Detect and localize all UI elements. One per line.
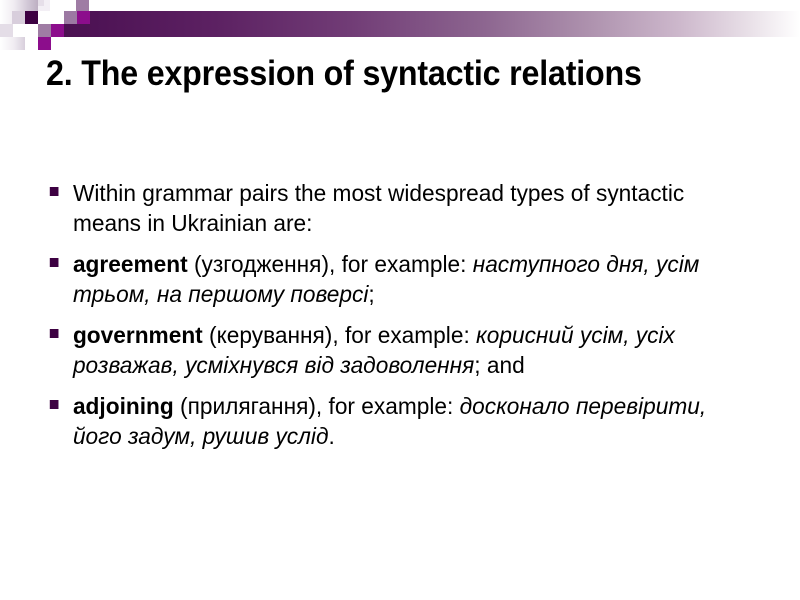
slide-header-decoration bbox=[0, 0, 800, 52]
list-item: agreement (узгодження), for example: нас… bbox=[44, 249, 758, 309]
checker-square bbox=[12, 11, 25, 24]
checker-square bbox=[89, 0, 102, 11]
text-run: (узгодження), for example: bbox=[188, 251, 473, 277]
checker-square bbox=[51, 37, 64, 50]
list-item-text: adjoining (прилягання), for example: дос… bbox=[73, 393, 706, 449]
checker-square bbox=[51, 11, 64, 24]
list-item-text: agreement (узгодження), for example: нас… bbox=[73, 251, 699, 307]
checker-square bbox=[76, 0, 89, 11]
checker-square bbox=[25, 37, 38, 50]
list-item-text: Within grammar pairs the most widespread… bbox=[73, 180, 684, 236]
square-bullet-icon bbox=[50, 400, 59, 409]
list-item: Within grammar pairs the most widespread… bbox=[44, 178, 758, 238]
header-gradient-bar bbox=[50, 11, 800, 37]
checker-square bbox=[0, 24, 13, 37]
text-run: . bbox=[328, 423, 334, 449]
checker-square bbox=[38, 37, 51, 50]
text-run: ; and bbox=[474, 352, 524, 378]
checker-square bbox=[38, 11, 51, 24]
checker-square bbox=[38, 24, 51, 37]
checker-square bbox=[51, 24, 64, 37]
checker-square bbox=[77, 11, 90, 24]
square-bullet-icon bbox=[50, 329, 59, 338]
term-bold: agreement bbox=[73, 251, 188, 277]
checker-square bbox=[25, 11, 38, 24]
text-run: (керування), for example: bbox=[203, 322, 476, 348]
list-item: adjoining (прилягання), for example: дос… bbox=[44, 391, 758, 451]
list-item: government (керування), for example: кор… bbox=[44, 320, 758, 380]
checker-square bbox=[38, 0, 44, 6]
square-bullet-icon bbox=[50, 187, 59, 196]
term-bold: adjoining bbox=[73, 393, 174, 419]
page-title: 2. The expression of syntactic relations bbox=[46, 52, 699, 96]
square-bullet-icon bbox=[50, 258, 59, 267]
checker-square bbox=[64, 11, 77, 24]
slide-body-list: Within grammar pairs the most widespread… bbox=[44, 178, 784, 462]
list-item-text: government (керування), for example: кор… bbox=[73, 322, 675, 378]
text-run: Within grammar pairs the most widespread… bbox=[73, 180, 684, 236]
checker-square bbox=[13, 24, 25, 37]
checker-square bbox=[63, 0, 76, 11]
text-run: (прилягання), for example: bbox=[174, 393, 460, 419]
checker-square bbox=[25, 24, 38, 37]
text-run: ; bbox=[368, 281, 374, 307]
term-bold: government bbox=[73, 322, 203, 348]
